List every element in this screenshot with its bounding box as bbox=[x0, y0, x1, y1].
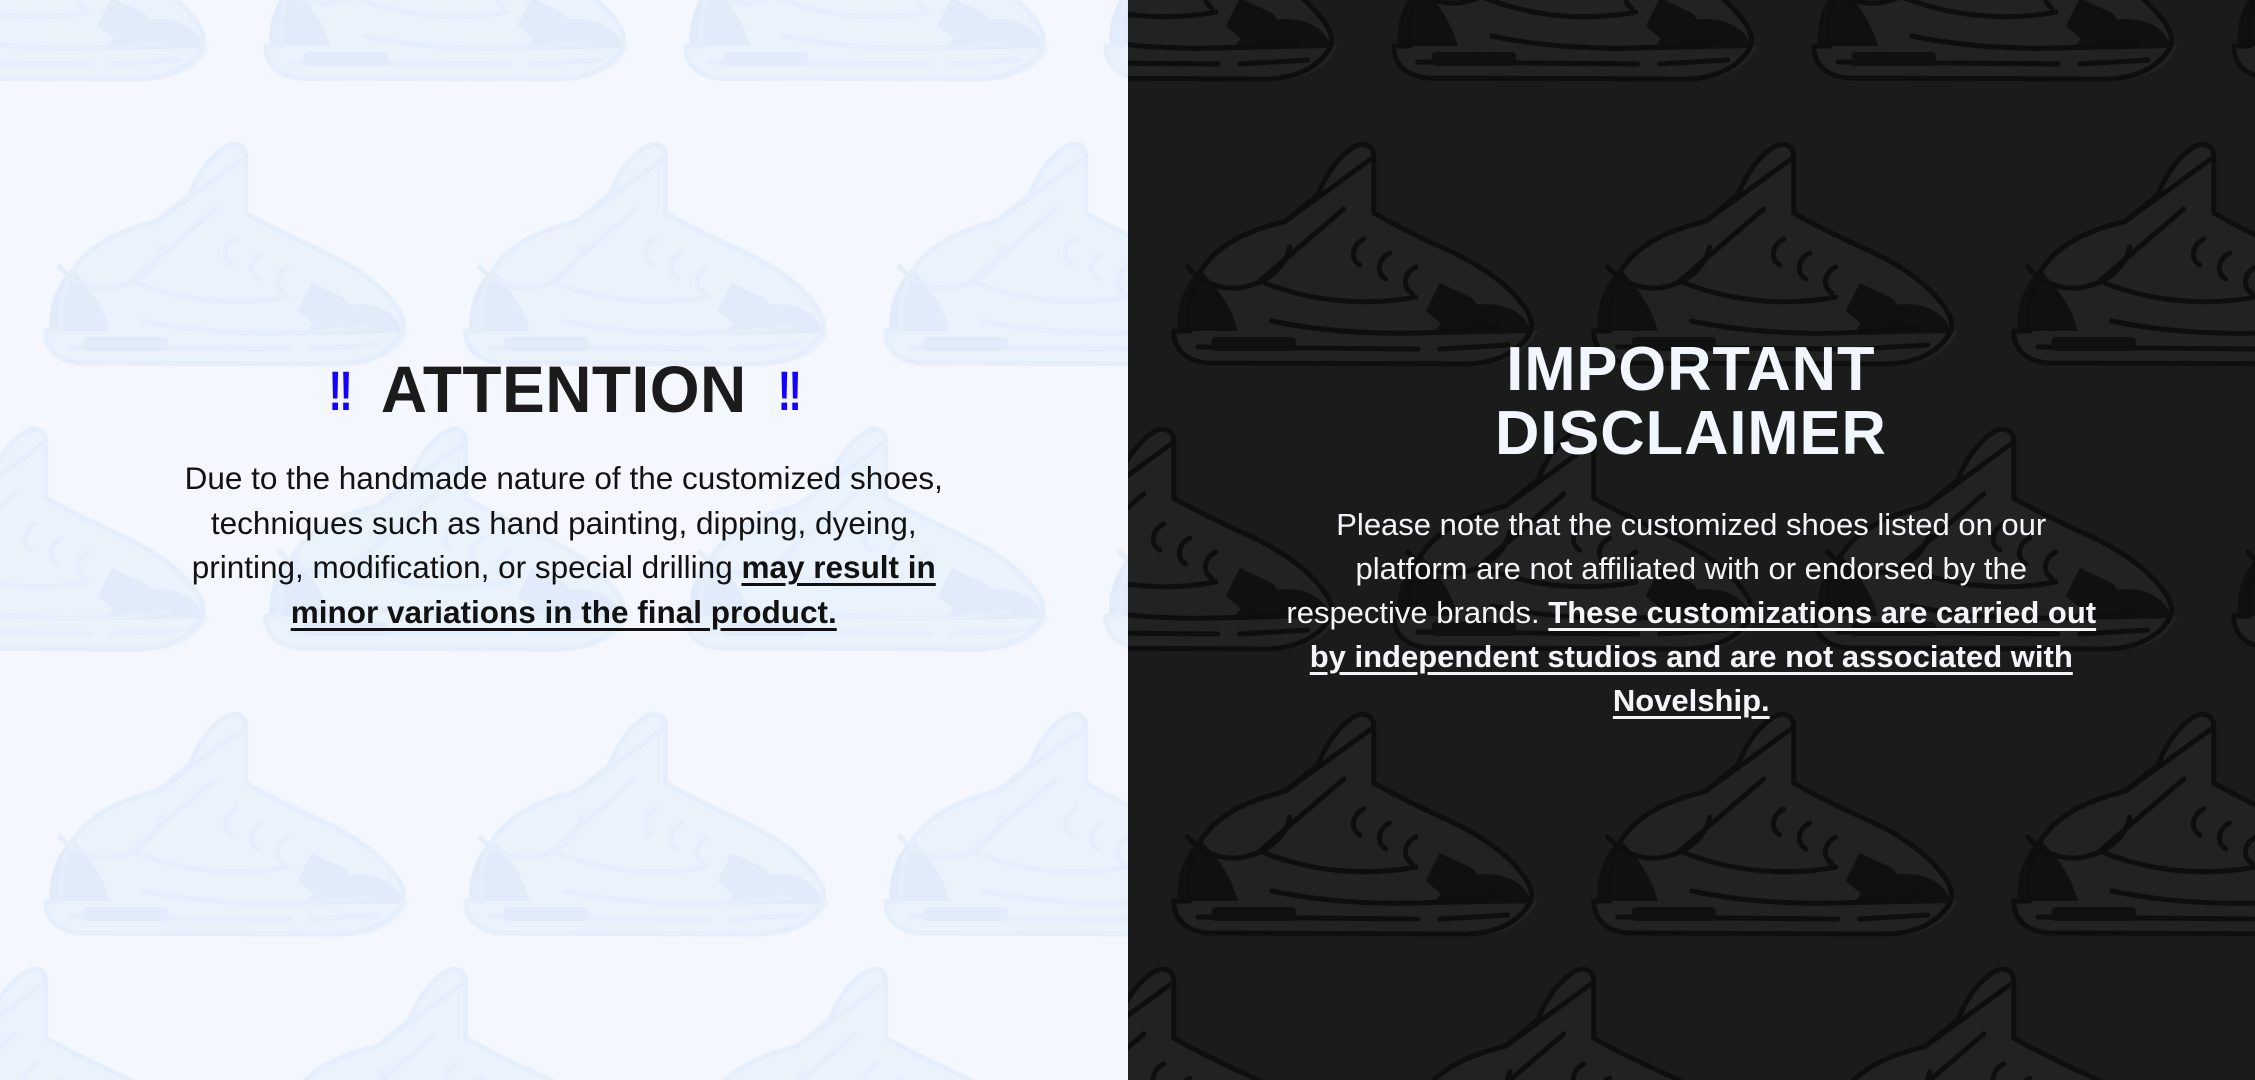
disclaimer-heading: IMPORTANT DISCLAIMER bbox=[1495, 338, 1887, 466]
disclaimer-banner: ‼ ATTENTION ‼ Due to the handmade nature… bbox=[0, 0, 2255, 1080]
disclaimer-body: Please note that the customized shoes li… bbox=[1285, 503, 2097, 723]
attention-heading-text: ATTENTION bbox=[381, 356, 747, 422]
disclaimer-panel: IMPORTANT DISCLAIMER Please note that th… bbox=[1128, 0, 2255, 1080]
attention-heading: ‼ ATTENTION ‼ bbox=[326, 356, 801, 422]
disclaimer-heading-line2: DISCLAIMER bbox=[1495, 399, 1887, 468]
attention-content: ‼ ATTENTION ‼ Due to the handmade nature… bbox=[0, 0, 1128, 635]
double-exclamation-left-icon: ‼ bbox=[329, 363, 350, 419]
disclaimer-heading-line1: IMPORTANT bbox=[1507, 335, 1876, 404]
attention-body: Due to the handmade nature of the custom… bbox=[169, 456, 959, 635]
attention-panel: ‼ ATTENTION ‼ Due to the handmade nature… bbox=[0, 0, 1128, 1080]
double-exclamation-right-icon: ‼ bbox=[778, 363, 799, 419]
disclaimer-content: IMPORTANT DISCLAIMER Please note that th… bbox=[1128, 0, 2255, 723]
